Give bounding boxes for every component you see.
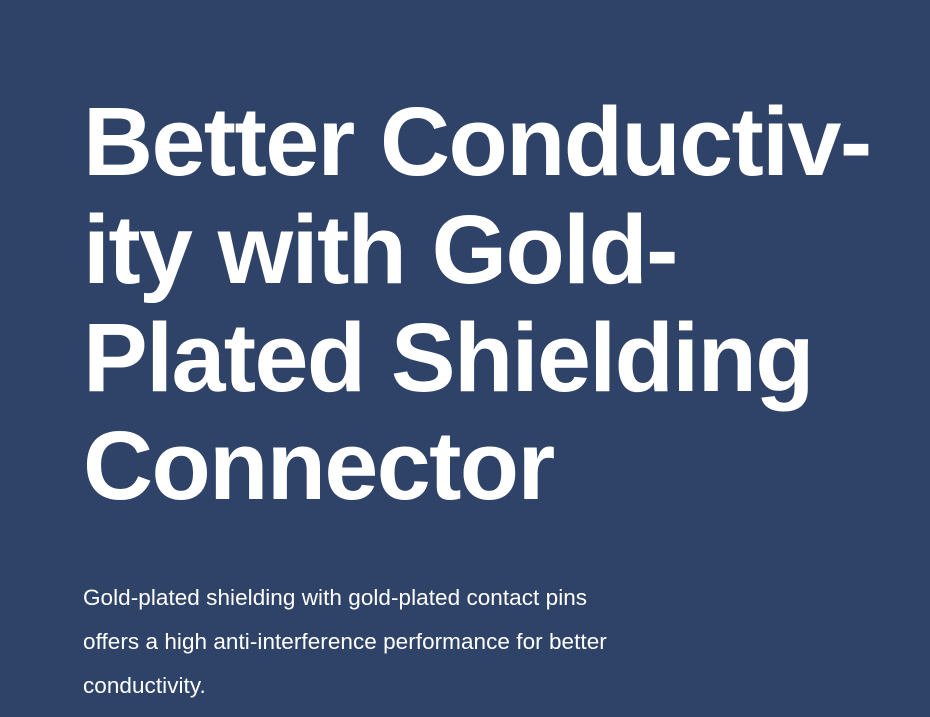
page-description-line-1: Gold-plated shielding with gold-plated c… xyxy=(83,576,843,620)
page-title-line-2: ity with Gold- xyxy=(83,196,878,304)
page-description-line-3: conductivity. xyxy=(83,664,843,708)
hero-content: Better Conductiv- ity with Gold- Plated … xyxy=(83,88,883,708)
page-title-line-3: Plated Shielding xyxy=(83,304,878,412)
hero-panel: Better Conductiv- ity with Gold- Plated … xyxy=(0,0,930,717)
page-description-line-2: offers a high anti-interference performa… xyxy=(83,620,843,664)
page-description: Gold-plated shielding with gold-plated c… xyxy=(83,576,843,708)
page-title: Better Conductiv- ity with Gold- Plated … xyxy=(83,88,878,520)
page-title-line-1: Better Conductiv- xyxy=(83,88,878,196)
page-title-line-4: Connector xyxy=(83,412,878,520)
